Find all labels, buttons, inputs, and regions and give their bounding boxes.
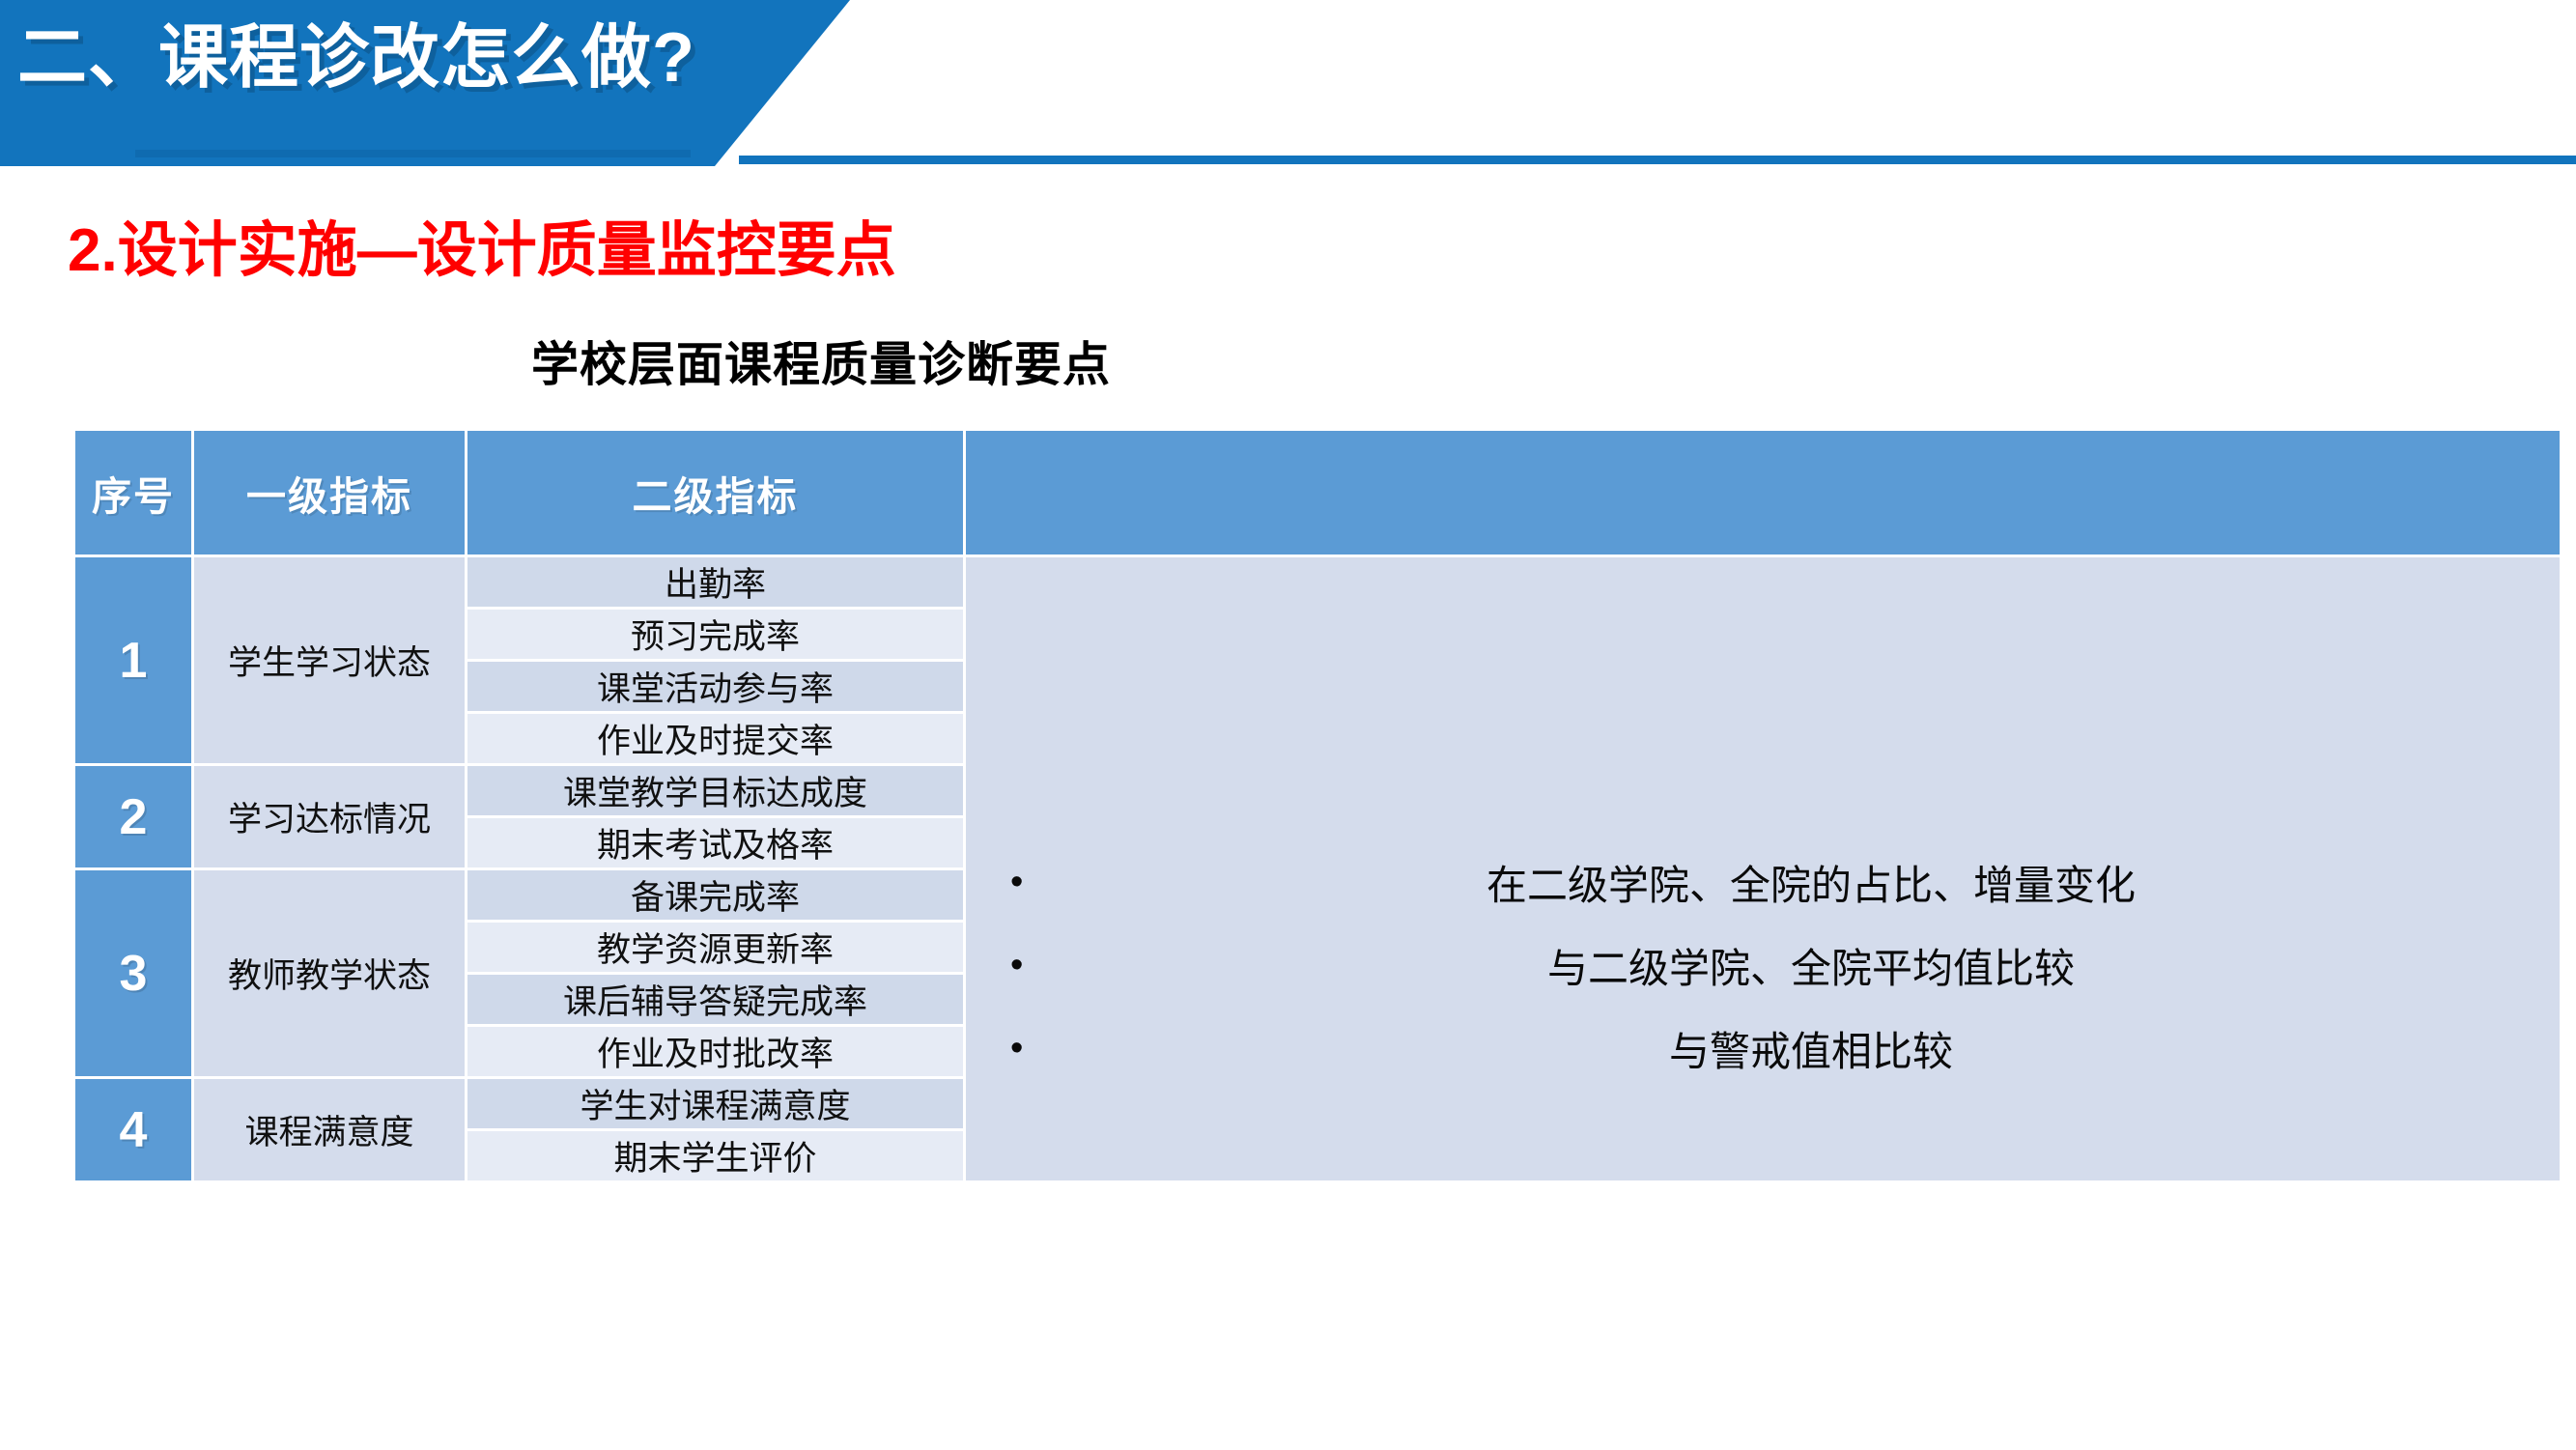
table-caption: 学校层面课程质量诊断要点 <box>0 327 1642 395</box>
list-item: 与二级学院、全院平均值比较 <box>1005 949 2560 989</box>
level2-indicator: 期末学生评价 <box>467 1131 963 1180</box>
level2-indicator: 课堂活动参与率 <box>467 662 963 711</box>
level1-indicator: 教师教学状态 <box>194 870 465 1076</box>
level2-indicator: 期末考试及格率 <box>467 818 963 867</box>
level2-indicator: 课堂教学目标达成度 <box>467 766 963 815</box>
row-number: 3 <box>75 870 191 1076</box>
table-row: 1 学生学习状态 出勤率 在二级学院、全院的占比、增量变化 与二级学院、全院平均… <box>75 557 2560 607</box>
quality-indicator-table: 序号 一级指标 二级指标 1 学生学习状态 出勤率 在二级学院、全院的占比、增量… <box>72 428 2562 1183</box>
column-header-lv1: 一级指标 <box>194 431 465 554</box>
list-item: 与警戒值相比较 <box>1005 1032 2560 1072</box>
level2-indicator: 作业及时批改率 <box>467 1027 963 1076</box>
level2-indicator: 备课完成率 <box>467 870 963 920</box>
level2-indicator: 学生对课程满意度 <box>467 1079 963 1128</box>
column-header-notes <box>966 431 2560 554</box>
row-number: 2 <box>75 766 191 867</box>
header-rule-right <box>739 156 2576 164</box>
list-item: 在二级学院、全院的占比、增量变化 <box>1005 866 2560 906</box>
level2-indicator: 课后辅导答疑完成率 <box>467 975 963 1024</box>
row-number: 4 <box>75 1079 191 1180</box>
column-header-no: 序号 <box>75 431 191 554</box>
notes-list: 在二级学院、全院的占比、增量变化 与二级学院、全院平均值比较 与警戒值相比较 <box>966 624 2560 1072</box>
row-number: 1 <box>75 557 191 763</box>
level2-indicator: 教学资源更新率 <box>467 923 963 972</box>
level1-indicator: 课程满意度 <box>194 1079 465 1180</box>
level1-indicator: 学生学习状态 <box>194 557 465 763</box>
header-rule-left <box>135 150 691 157</box>
level1-indicator: 学习达标情况 <box>194 766 465 867</box>
column-header-lv2: 二级指标 <box>467 431 963 554</box>
page-title: 二、课程诊改怎么做? <box>17 10 790 106</box>
level2-indicator: 出勤率 <box>467 557 963 607</box>
notes-cell: 在二级学院、全院的占比、增量变化 与二级学院、全院平均值比较 与警戒值相比较 <box>966 557 2560 1180</box>
table-header-row: 序号 一级指标 二级指标 <box>75 431 2560 554</box>
section-title: 2.设计实施—设计质量监控要点 <box>68 201 896 288</box>
level2-indicator: 预习完成率 <box>467 610 963 659</box>
level2-indicator: 作业及时提交率 <box>467 714 963 763</box>
